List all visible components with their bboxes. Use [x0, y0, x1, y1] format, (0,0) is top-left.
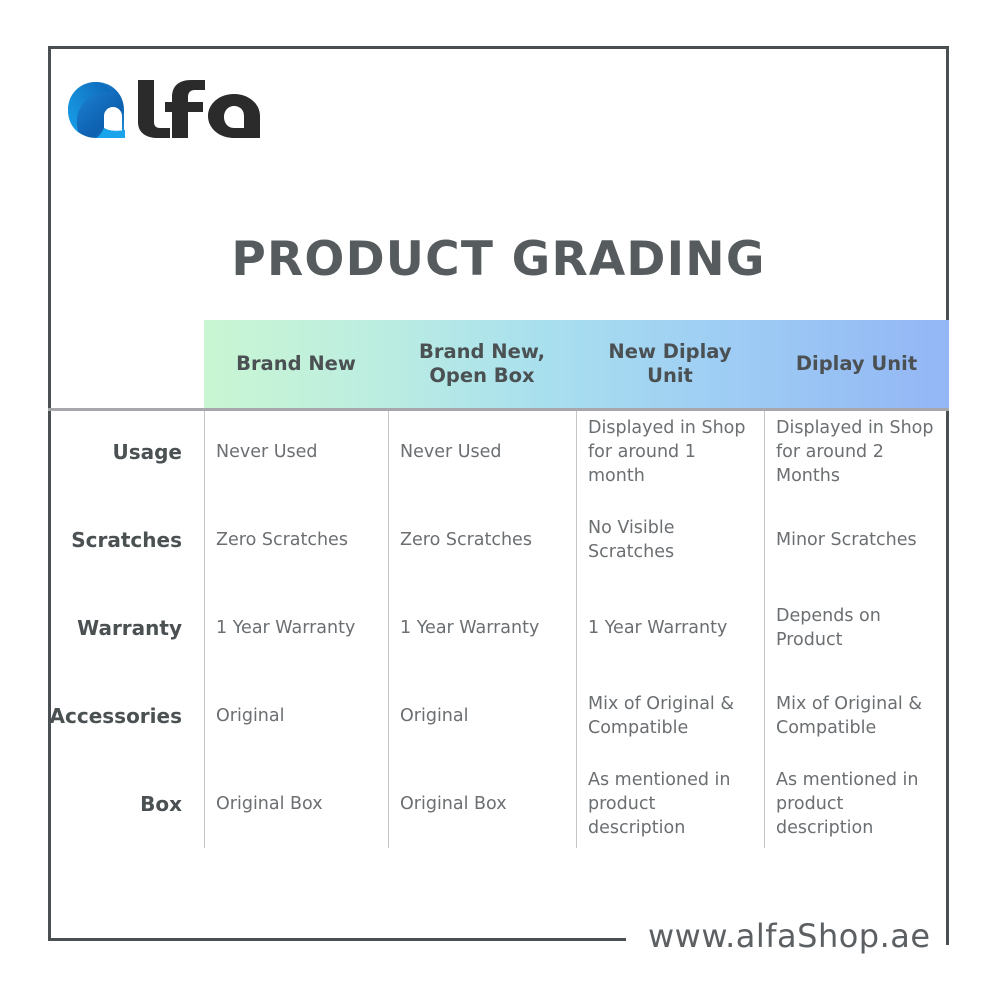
column-header-line2: Open Box	[429, 364, 534, 387]
poster-canvas: PRODUCT GRADING Brand New Brand New, O	[0, 0, 1000, 1000]
cell-line1: Displayed in Shop	[588, 416, 754, 440]
column-header-brand-new[interactable]: Brand New	[204, 320, 388, 408]
row-label-scratches: Scratches	[48, 496, 204, 584]
table-cell: Original Box	[388, 760, 576, 848]
column-header-line1: Brand New	[236, 352, 356, 375]
table-cell: Displayed in Shopfor around 2 Months	[764, 408, 949, 496]
alfa-logo[interactable]	[66, 78, 266, 150]
table-cell: 1 Year Warranty	[204, 584, 388, 672]
cell-line2: product description	[588, 792, 754, 840]
cell-line1: 1 Year Warranty	[400, 616, 539, 640]
cell-line1: Minor Scratches	[776, 528, 917, 552]
cell-line2: Compatible	[588, 716, 734, 740]
table-cell: As mentioned inproduct description	[764, 760, 949, 848]
table-cell: Never Used	[204, 408, 388, 496]
cell-line1: Original Box	[216, 792, 323, 816]
header-bottom-rule	[48, 408, 949, 411]
product-grading-table: Brand New Brand New, Open Box New Diplay…	[48, 320, 949, 848]
table-cell: Mix of Original &Compatible	[764, 672, 949, 760]
cell-line2: product description	[776, 792, 939, 840]
frame-border-top	[48, 46, 949, 49]
column-header-line1: Diplay Unit	[796, 352, 917, 375]
table-cell: Zero Scratches	[388, 496, 576, 584]
table-cell: Never Used	[388, 408, 576, 496]
row-label-warranty: Warranty	[48, 584, 204, 672]
cell-line1: As mentioned in	[776, 768, 939, 792]
cell-line1: Zero Scratches	[400, 528, 532, 552]
table-cell: Depends on Product	[764, 584, 949, 672]
cell-line1: Original Box	[400, 792, 507, 816]
table-cell: Displayed in Shopfor around 1 month	[576, 408, 764, 496]
table-corner-cell	[48, 320, 204, 408]
cell-line1: Original	[216, 704, 284, 728]
page-title: PRODUCT GRADING	[51, 232, 946, 287]
table-cell: Original Box	[204, 760, 388, 848]
table-cell: 1 Year Warranty	[576, 584, 764, 672]
cell-line1: Zero Scratches	[216, 528, 348, 552]
cell-line1: Mix of Original &	[776, 692, 922, 716]
column-separator-3	[576, 411, 577, 848]
column-header-new-diplay-unit[interactable]: New Diplay Unit	[576, 320, 764, 408]
table-cell: Mix of Original &Compatible	[576, 672, 764, 760]
column-header-line1: Brand New,	[419, 340, 545, 363]
cell-line1: 1 Year Warranty	[216, 616, 355, 640]
table-cell: 1 Year Warranty	[388, 584, 576, 672]
cell-line1: Never Used	[216, 440, 318, 464]
cell-line1: Never Used	[400, 440, 502, 464]
column-header-brand-new-open-box[interactable]: Brand New, Open Box	[388, 320, 576, 408]
table-cell: No Visible Scratches	[576, 496, 764, 584]
column-separator-1	[204, 411, 205, 848]
column-separator-2	[388, 411, 389, 848]
cell-line2: Compatible	[776, 716, 922, 740]
row-label-box: Box	[48, 760, 204, 848]
cell-line1: No Visible Scratches	[588, 516, 754, 564]
cell-line2: for around 2 Months	[776, 440, 939, 488]
cell-line1: Mix of Original &	[588, 692, 734, 716]
cell-line2: for around 1 month	[588, 440, 754, 488]
table-cell: As mentioned inproduct description	[576, 760, 764, 848]
website-url[interactable]: www.alfaShop.ae	[640, 917, 939, 955]
cell-line1: 1 Year Warranty	[588, 616, 727, 640]
cell-line1: As mentioned in	[588, 768, 754, 792]
table-cell: Zero Scratches	[204, 496, 388, 584]
column-header-diplay-unit[interactable]: Diplay Unit	[764, 320, 949, 408]
frame-border-bottom	[48, 938, 626, 941]
cell-line1: Original	[400, 704, 468, 728]
table-cell: Original	[204, 672, 388, 760]
table-cell: Original	[388, 672, 576, 760]
column-header-line1: New Diplay Unit	[608, 340, 731, 387]
cell-line1: Displayed in Shop	[776, 416, 939, 440]
table-cell: Minor Scratches	[764, 496, 949, 584]
row-label-usage: Usage	[48, 408, 204, 496]
column-separator-4	[764, 411, 765, 848]
row-label-accessories: Accessories	[48, 672, 204, 760]
cell-line1: Depends on Product	[776, 604, 939, 652]
